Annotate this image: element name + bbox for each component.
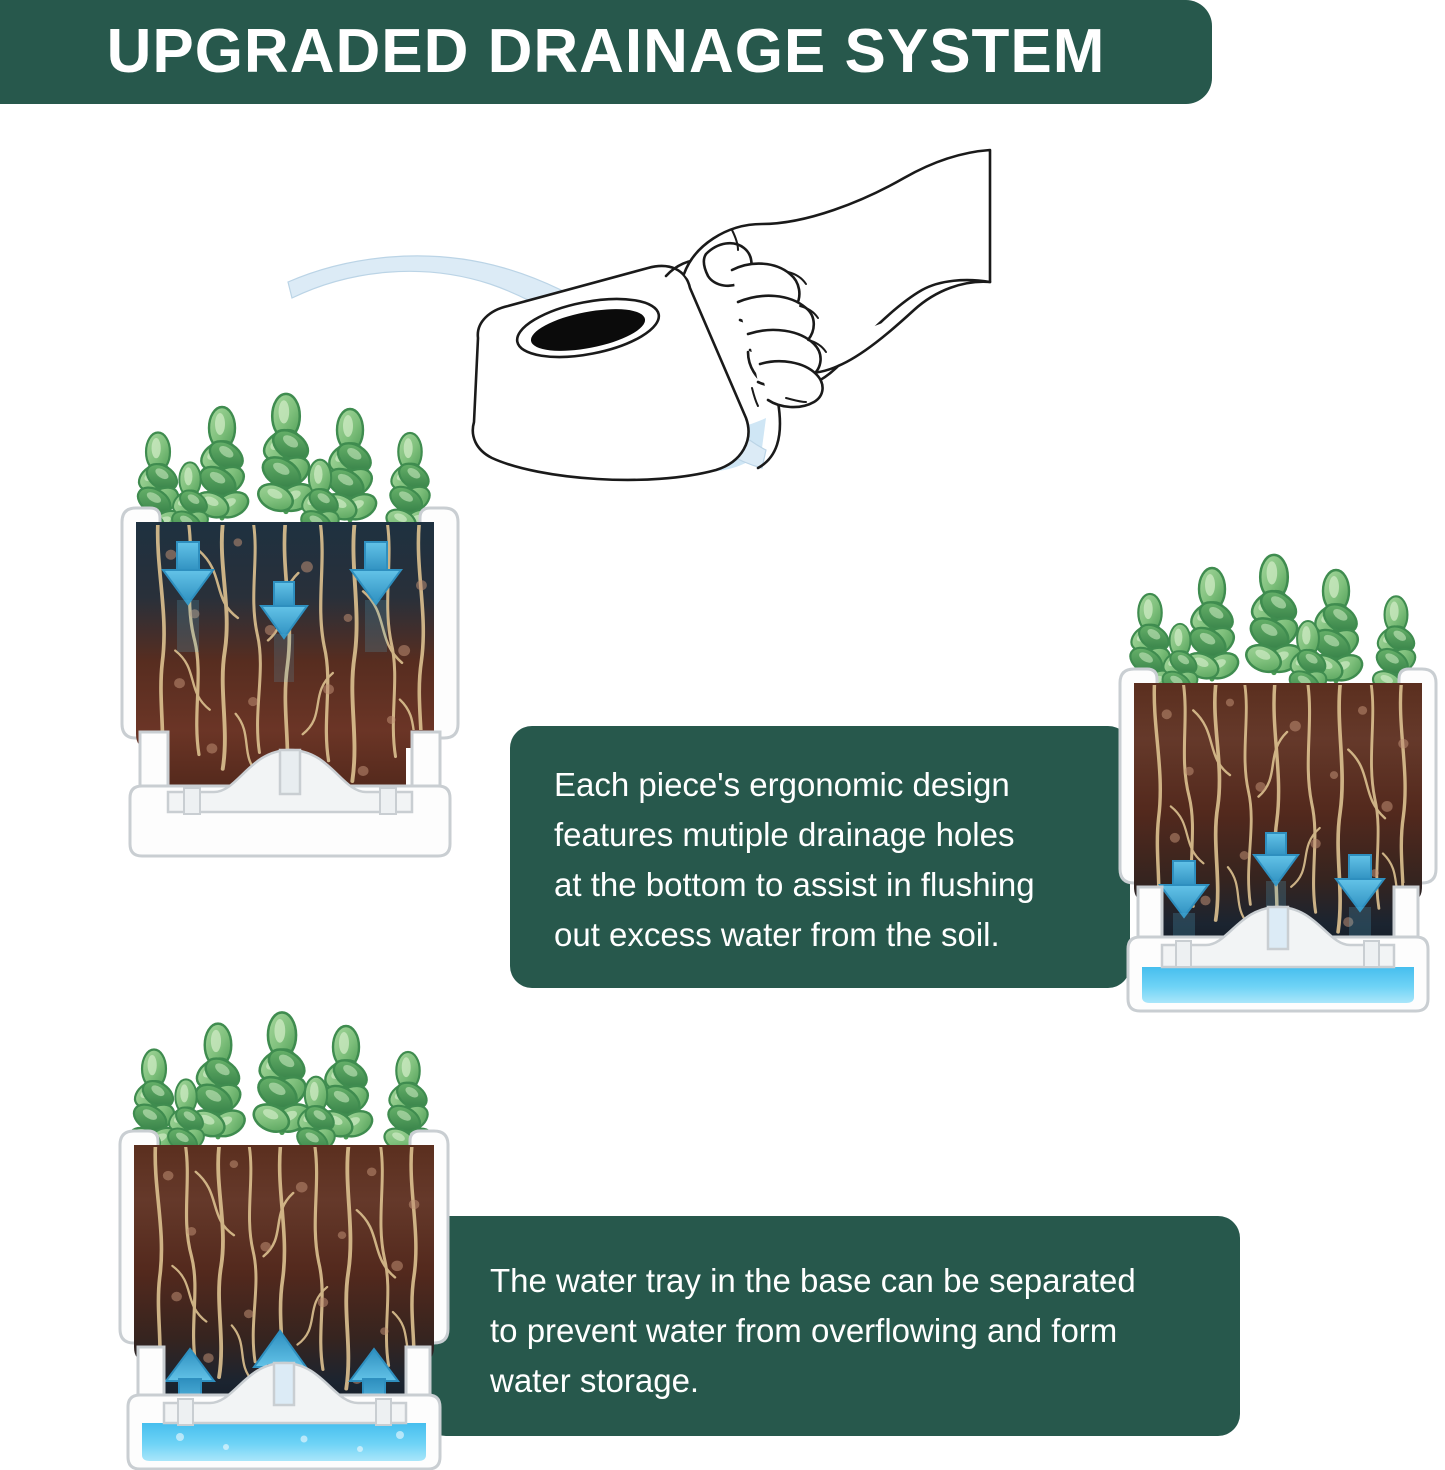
- callout-line: features mutiple drainage holes: [554, 810, 1090, 860]
- callout-line: water storage.: [490, 1356, 1204, 1406]
- header-banner: UPGRADED DRAINAGE SYSTEM: [0, 0, 1212, 104]
- callout-line: to prevent water from overflowing and fo…: [490, 1306, 1204, 1356]
- illustration-planter-draining: [1108, 505, 1445, 1025]
- illustration-planter-wicking: [108, 995, 460, 1470]
- callout-drainage-holes: Each piece's ergonomic design features m…: [510, 726, 1130, 988]
- hand-illustration: [684, 150, 990, 407]
- callout-line: out excess water from the soil.: [554, 910, 1090, 960]
- callout-line: The water tray in the base can be separa…: [490, 1256, 1204, 1306]
- infographic-canvas: UPGRADED DRAINAGE SYSTEM Each piece's er…: [0, 0, 1445, 1470]
- illustration-planter-watering: [110, 330, 470, 860]
- illustration-hand-watering-can: [470, 150, 990, 570]
- callout-line: at the bottom to assist in flushing: [554, 860, 1090, 910]
- callout-line: Each piece's ergonomic design: [554, 760, 1090, 810]
- tray-water: [142, 1423, 426, 1461]
- page-title: UPGRADED DRAINAGE SYSTEM: [107, 21, 1106, 83]
- callout-water-tray: The water tray in the base can be separa…: [424, 1216, 1240, 1436]
- tray-water: [1142, 967, 1414, 1003]
